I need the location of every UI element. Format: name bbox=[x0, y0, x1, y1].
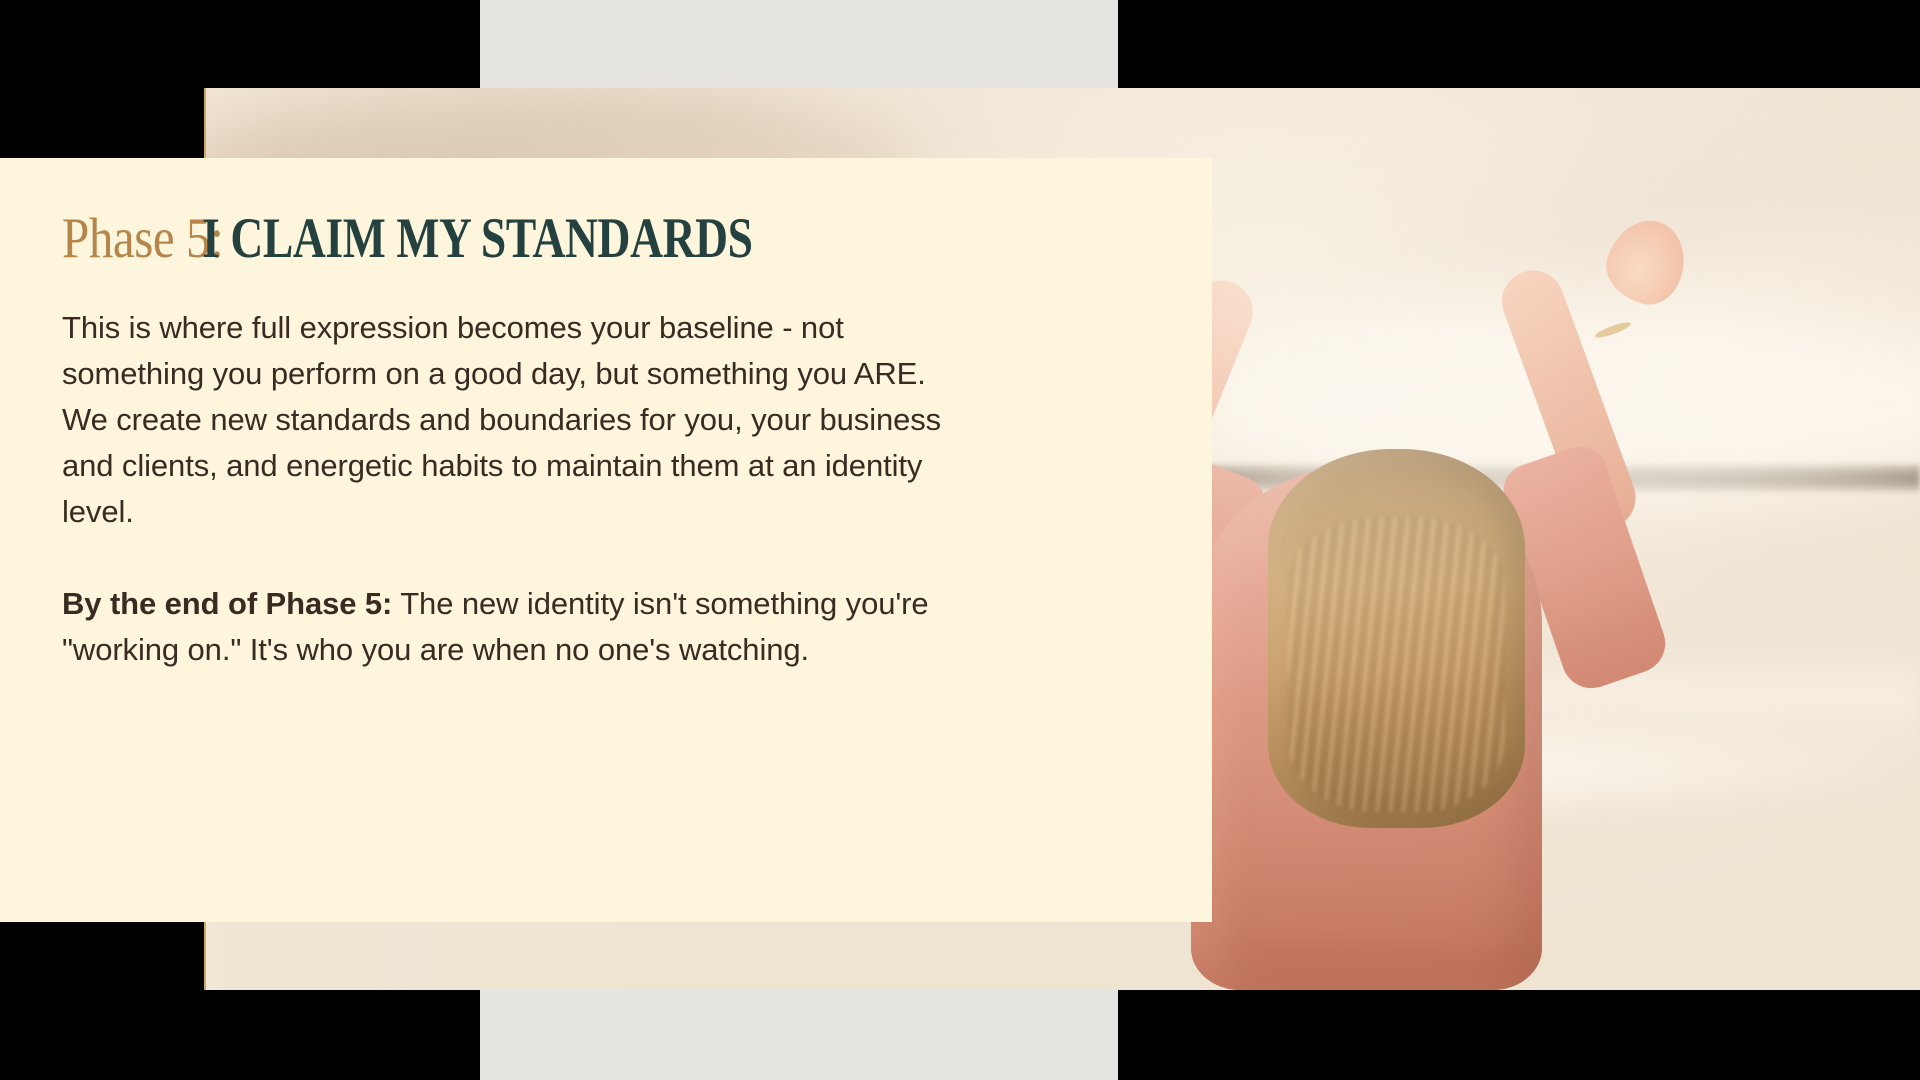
page-title: Phase 5: I CLAIM MY STANDARDS bbox=[62, 206, 1142, 271]
right-hand bbox=[1598, 211, 1693, 312]
right-bracelet bbox=[1594, 320, 1632, 341]
card-content: Phase 5: I CLAIM MY STANDARDS This is wh… bbox=[62, 206, 1142, 673]
paragraph-outcome: By the end of Phase 5: The new identity … bbox=[62, 581, 962, 673]
text-card: Phase 5: I CLAIM MY STANDARDS This is wh… bbox=[0, 158, 1212, 922]
paragraph-outcome-lead: By the end of Phase 5: bbox=[62, 586, 392, 621]
hair bbox=[1268, 449, 1525, 828]
title-headline: I CLAIM MY STANDARDS bbox=[202, 206, 753, 271]
paragraph-intro: This is where full expression becomes yo… bbox=[62, 305, 962, 535]
title-phase-label: Phase 5: bbox=[62, 206, 223, 271]
slide-canvas: Phase 5: I CLAIM MY STANDARDS This is wh… bbox=[0, 0, 1920, 1080]
paragraph-intro-text: This is where full expression becomes yo… bbox=[62, 310, 941, 529]
